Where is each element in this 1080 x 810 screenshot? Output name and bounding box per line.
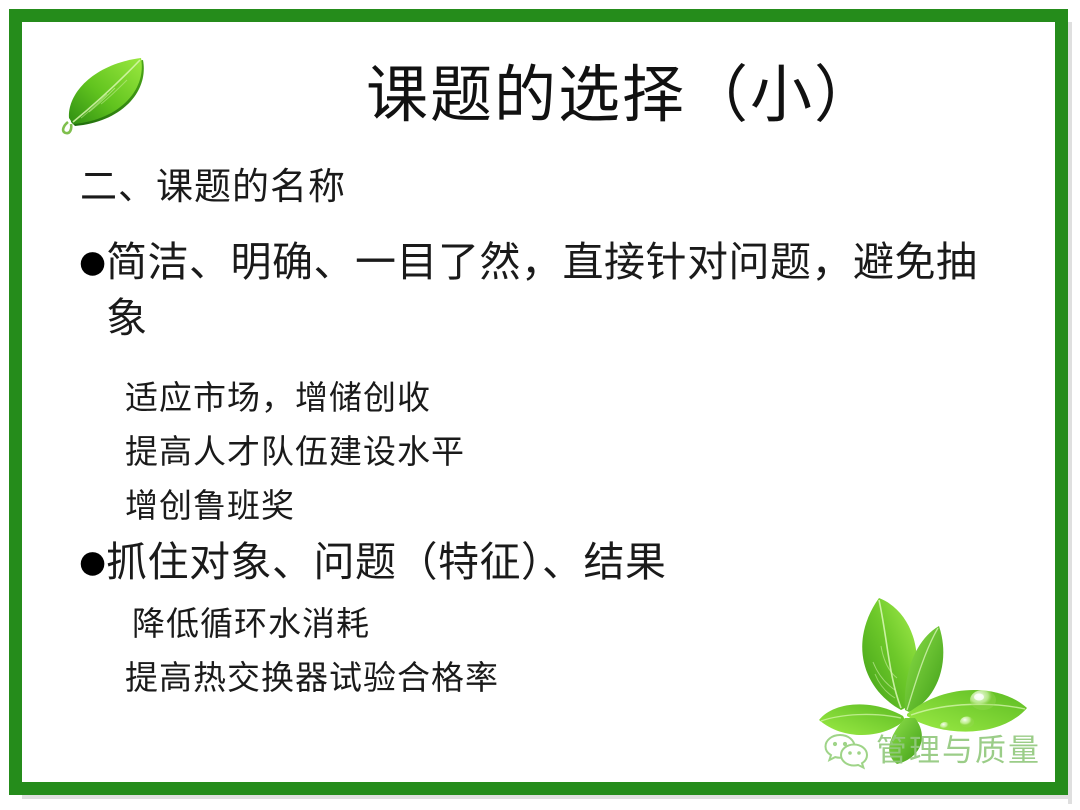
- watermark-label: 管理与质量: [876, 734, 1041, 768]
- example-item: 适应市场，增储创收: [125, 376, 431, 420]
- bullet-item-1: ● 简洁、明确、一目了然，直接针对问题，避免抽象: [79, 234, 1009, 346]
- wechat-icon: [824, 732, 868, 770]
- example-item: 提高热交换器试验合格率: [125, 656, 499, 700]
- slide: 课题的选择（小） 二、课题的名称 ● 简洁、明确、一目了然，直接针对问题，避免抽…: [0, 0, 1080, 810]
- example-item: 提高人才队伍建设水平: [125, 430, 465, 474]
- leaf-icon: [55, 48, 159, 136]
- watermark: 管理与质量: [824, 732, 1041, 770]
- section-heading: 二、课题的名称: [80, 162, 346, 212]
- bullet-dot-icon: ●: [79, 534, 106, 590]
- example-item: 增创鲁班奖: [125, 484, 295, 528]
- page-title: 课题的选择（小）: [232, 54, 1012, 136]
- example-item: 降低循环水消耗: [132, 602, 370, 646]
- bullet-dot-icon: ●: [79, 234, 106, 290]
- frame-shadow-right: [1068, 22, 1072, 804]
- bullet-item-2-text: 抓住对象、问题（特征）、结果: [106, 534, 667, 590]
- bullet-item-1-text: 简洁、明确、一目了然，直接针对问题，避免抽象: [106, 234, 1001, 346]
- frame-shadow-bottom: [22, 795, 1072, 799]
- slide-content-area: 课题的选择（小） 二、课题的名称 ● 简洁、明确、一目了然，直接针对问题，避免抽…: [22, 22, 1055, 782]
